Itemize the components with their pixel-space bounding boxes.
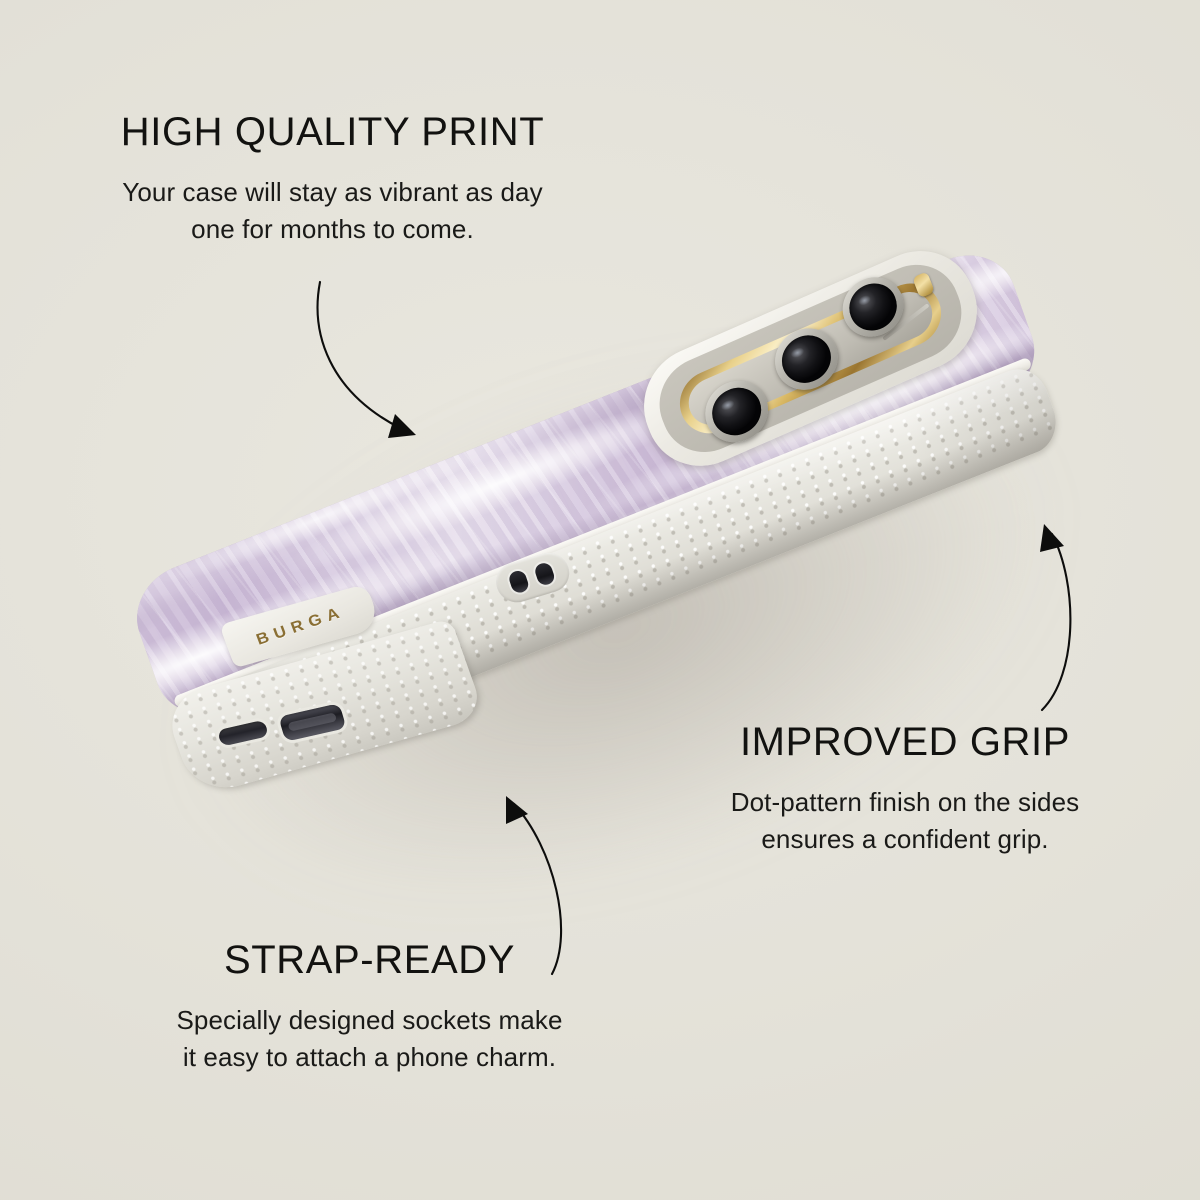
callout-improved-grip: IMPROVED GRIP Dot-pattern finish on the … (625, 722, 1185, 858)
callout-body-line-1: Your case will stay as vibrant as day (122, 177, 542, 207)
strap-socket-1 (507, 569, 530, 595)
curved-arrow-down-right-icon (296, 268, 466, 468)
callout-body-line-2: one for months to come. (191, 214, 474, 244)
callout-body-line-1: Dot-pattern finish on the sides (731, 787, 1080, 817)
callout-body-line-1: Specially designed sockets make (176, 1005, 562, 1035)
callout-headline: HIGH QUALITY PRINT (0, 112, 665, 152)
strap-socket-2 (533, 561, 556, 587)
curved-arrow-up-left-icon (956, 498, 1136, 738)
callout-high-quality-print: HIGH QUALITY PRINT Your case will stay a… (0, 112, 665, 248)
callout-body: Your case will stay as vibrant as day on… (0, 174, 665, 248)
product-feature-graphic: BURGA HIGH QUALITY PRINT Your case will … (0, 0, 1200, 1200)
curved-arrow-up-left-icon (470, 782, 610, 982)
callout-body-line-2: it easy to attach a phone charm. (183, 1042, 556, 1072)
callout-body: Specially designed sockets make it easy … (62, 1002, 677, 1076)
callout-body-line-2: ensures a confident grip. (761, 824, 1048, 854)
callout-body: Dot-pattern finish on the sides ensures … (625, 784, 1185, 858)
